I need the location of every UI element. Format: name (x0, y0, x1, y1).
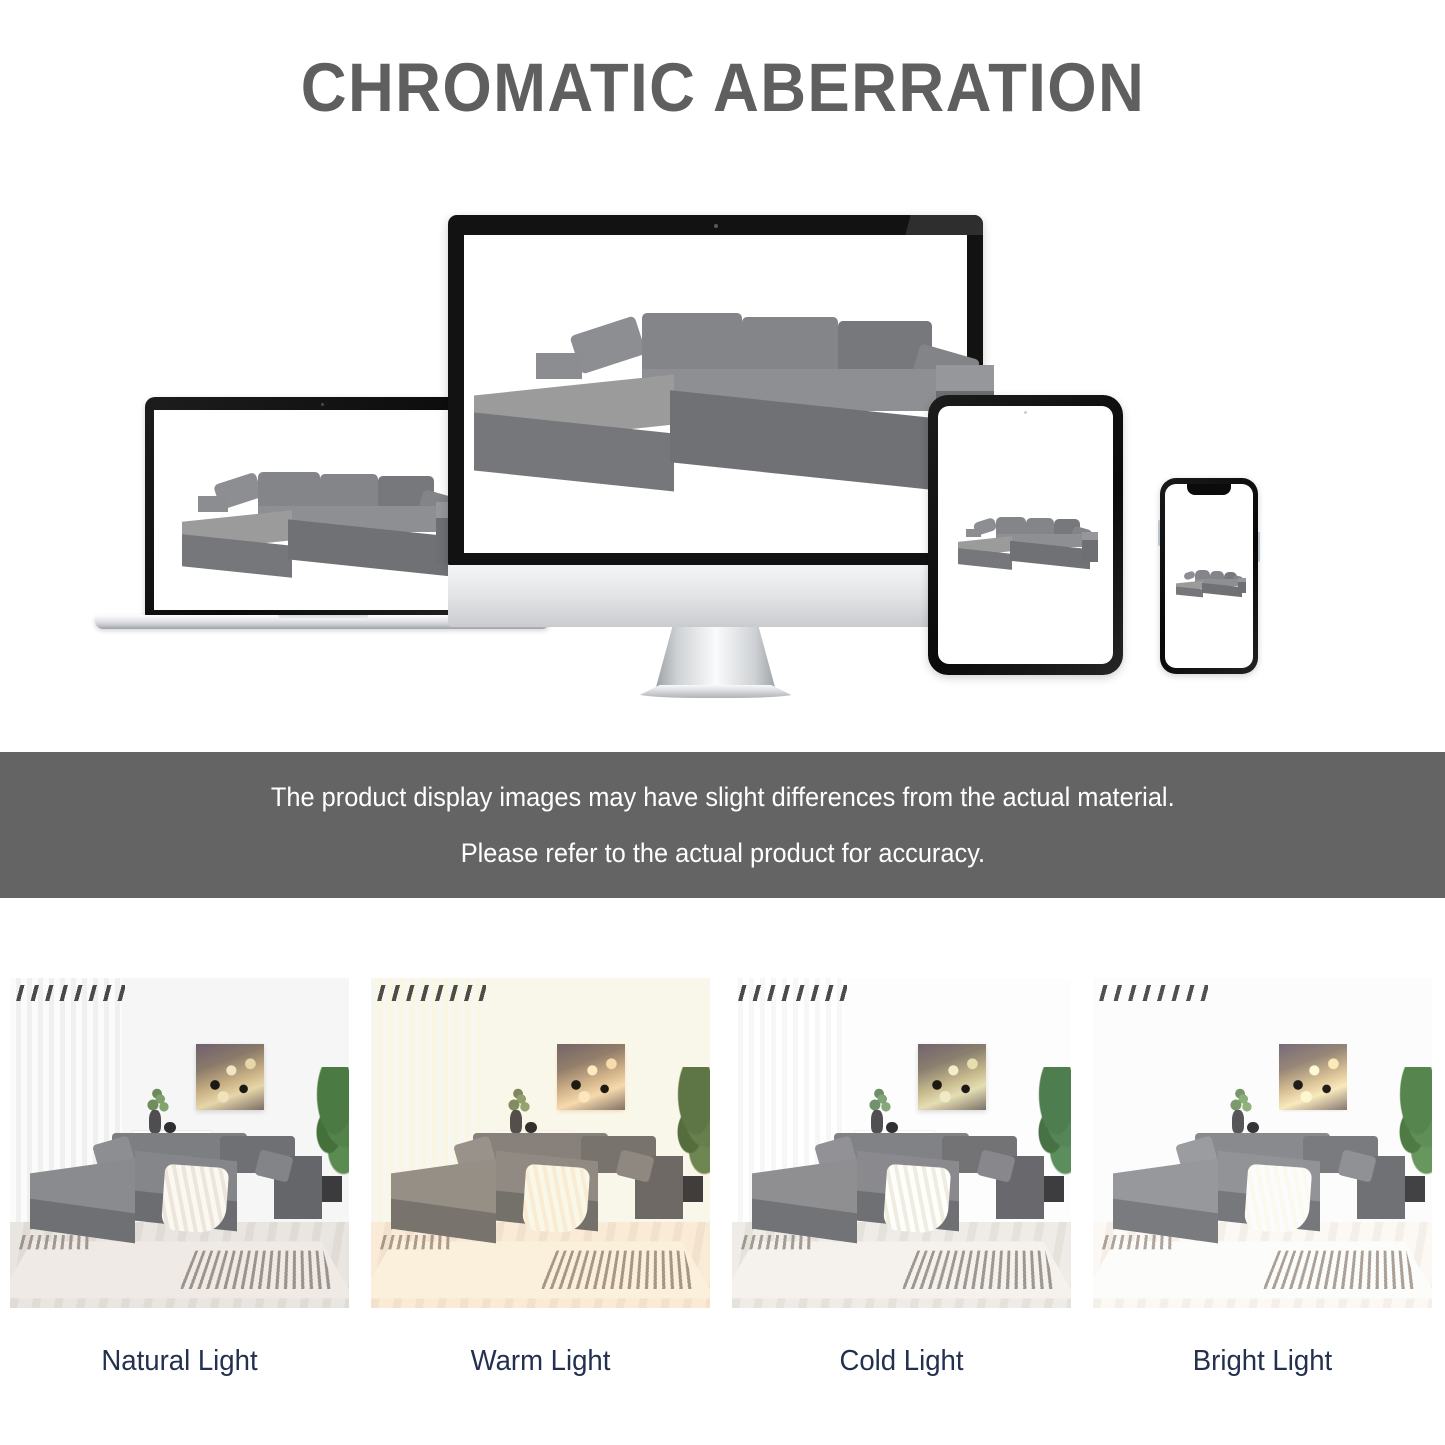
tablet-camera-icon (1024, 411, 1027, 414)
label-bright-light: Bright Light (1101, 1345, 1423, 1405)
phone-volume-button (1158, 520, 1160, 546)
phone-screen-content (1165, 484, 1253, 668)
monitor-chin (448, 565, 983, 627)
gallery-cell-cold-light[interactable] (732, 978, 1071, 1308)
label-natural-light: Natural Light (18, 1345, 340, 1405)
phone-power-button (1258, 532, 1260, 562)
phone-notch (1187, 484, 1231, 495)
wall-art (557, 1044, 625, 1110)
lighting-labels-row: Natural Light Warm Light Cold Light Brig… (0, 1345, 1445, 1405)
monitor-device (448, 215, 983, 705)
gallery-cell-natural-light[interactable] (10, 978, 349, 1308)
disclaimer-line-2: Please refer to the actual product for a… (460, 825, 984, 881)
room-scene-warm (371, 978, 710, 1308)
wall-art (918, 1044, 986, 1110)
laptop-camera-icon (321, 403, 324, 406)
monitor-screen-bezel (448, 215, 983, 565)
room-scene-cold (732, 978, 1071, 1308)
disclaimer-line-1: The product display images may have slig… (271, 769, 1175, 825)
room-scene-natural (10, 978, 349, 1308)
sofa-illustration-phone (1175, 570, 1245, 602)
wall-art (1279, 1044, 1347, 1110)
tablet-device (928, 395, 1123, 675)
page-title: CHROMATIC ABERRATION (300, 48, 1145, 127)
phone-device (1160, 478, 1258, 674)
laptop-trackpad-notch (278, 615, 368, 620)
device-showcase (0, 175, 1445, 750)
gallery-cell-bright-light[interactable] (1093, 978, 1432, 1308)
lighting-comparison-gallery (0, 978, 1445, 1308)
monitor-stand-neck (656, 627, 776, 689)
label-warm-light: Warm Light (379, 1345, 701, 1405)
label-cold-light: Cold Light (740, 1345, 1062, 1405)
gallery-cell-warm-light[interactable] (371, 978, 710, 1308)
room-scene-bright (1093, 978, 1432, 1308)
laptop-screen-content (154, 410, 491, 610)
sofa-illustration-laptop (178, 470, 478, 590)
laptop-screen-bezel (145, 397, 500, 617)
monitor-camera-icon (714, 224, 718, 228)
monitor-stand-foot (634, 685, 798, 698)
sofa-illustration-tablet (956, 516, 1096, 578)
monitor-screen-content (464, 235, 967, 553)
wall-art (196, 1044, 264, 1110)
monitor-bezel-highlight (863, 215, 983, 235)
page-title-bar: CHROMATIC ABERRATION (0, 0, 1445, 175)
tablet-screen-content (938, 406, 1113, 664)
sofa-illustration-monitor (474, 313, 994, 523)
disclaimer-banner: The product display images may have slig… (0, 752, 1445, 898)
